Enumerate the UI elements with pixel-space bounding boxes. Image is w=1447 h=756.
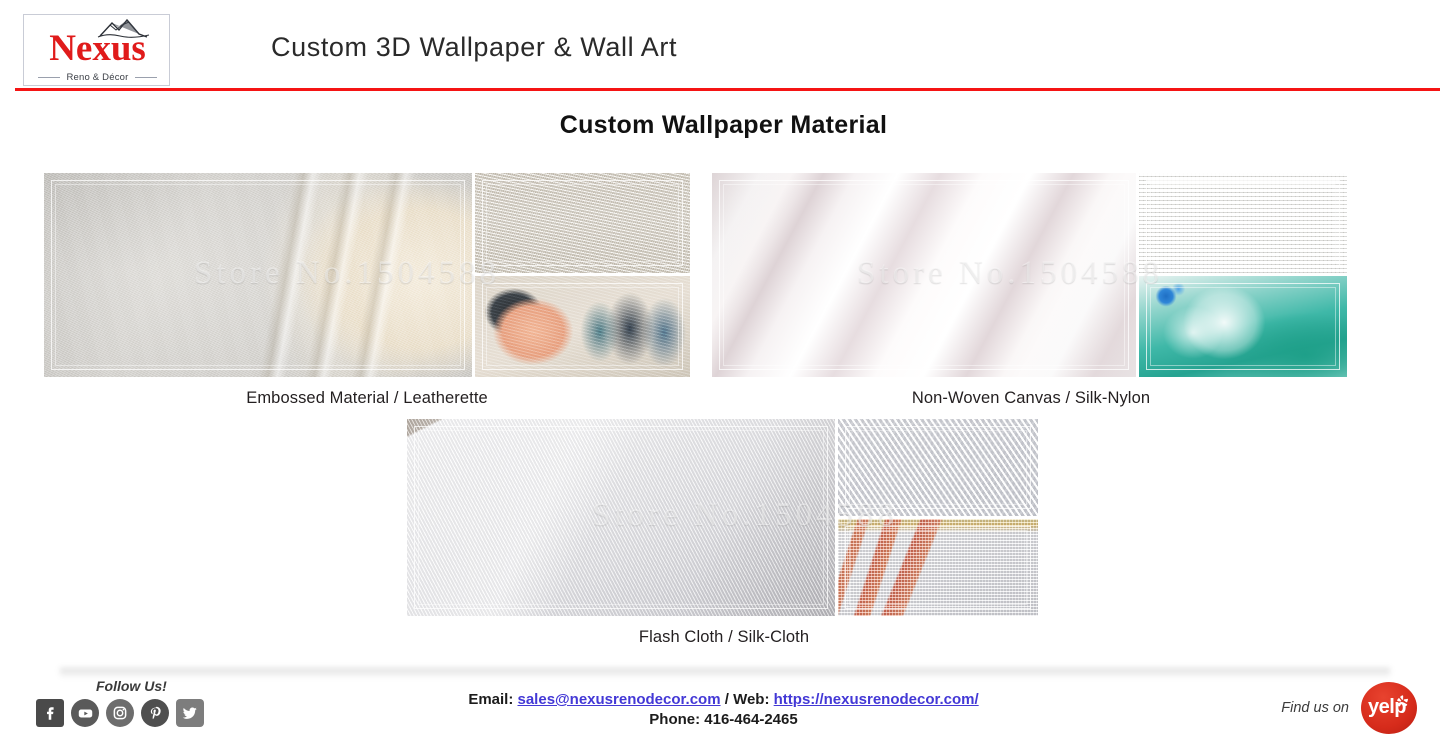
material-group-embossed: Store No.1504588 Embossed Material / Lea… (44, 173, 690, 408)
email-link[interactable]: sales@nexusrenodecor.com (518, 691, 721, 708)
flash-cloth-bump-texture-photo[interactable] (838, 419, 1038, 516)
tagline-rule-right (135, 77, 157, 78)
contact-info: Email: sales@nexusrenodecor.com / Web: h… (0, 690, 1447, 730)
tagline-rule-left (38, 77, 60, 78)
website-link[interactable]: https://nexusrenodecor.com/ (774, 691, 979, 708)
footer-divider-shadow (60, 668, 1390, 678)
flash-cloth-sheet-photo[interactable] (407, 419, 835, 616)
header-divider (15, 88, 1440, 91)
material-side-images (1139, 173, 1347, 377)
page-title: Custom Wallpaper Material (0, 111, 1447, 140)
material-side-images (838, 419, 1038, 616)
page-header: Nexus Reno & Décor Custom 3D Wallpaper &… (0, 0, 1447, 92)
material-group-images: Store No.1504588 (44, 173, 690, 377)
brand-logo[interactable]: Nexus Reno & Décor (23, 14, 170, 86)
material-group-images: Store No.1504588 (712, 173, 1350, 377)
teal-floral-print-photo[interactable] (1139, 276, 1347, 377)
material-side-images (475, 173, 690, 377)
phone-line: Phone: 416-464-2465 (0, 710, 1447, 730)
material-group-images: Store No.1504588 (407, 419, 1041, 616)
white-silk-fabric-photo[interactable] (712, 173, 1136, 377)
brand-logo-word: Nexus (24, 29, 171, 69)
yelp-block[interactable]: Find us on yelp (1281, 682, 1417, 734)
yelp-burst-icon (1395, 694, 1410, 709)
material-group-nonwoven: Store No.1504588 Non-Woven Canvas / Silk… (712, 173, 1350, 408)
material-caption-embossed: Embossed Material / Leatherette (44, 389, 690, 408)
page-footer: Follow Us! (0, 668, 1447, 756)
material-caption-flashcloth: Flash Cloth / Silk-Cloth (407, 628, 1041, 647)
contact-separator: / (721, 691, 734, 708)
embossed-stucco-texture-photo[interactable] (475, 173, 690, 273)
brand-tagline-wrap: Reno & Décor (24, 72, 171, 83)
contact-line-primary: Email: sales@nexusrenodecor.com / Web: h… (0, 690, 1447, 710)
slide-page: Nexus Reno & Décor Custom 3D Wallpaper &… (0, 0, 1447, 756)
red-stripe-mesh-print-photo[interactable] (838, 519, 1038, 616)
web-label: Web: (733, 691, 769, 708)
header-title: Custom 3D Wallpaper & Wall Art (271, 32, 677, 63)
yelp-badge[interactable]: yelp (1361, 682, 1417, 734)
yelp-label: Find us on (1281, 700, 1349, 716)
embossed-bird-print-photo[interactable] (475, 276, 690, 377)
material-group-flashcloth: Store No.1504588 Flash Cloth / Silk-Clot… (407, 419, 1041, 647)
email-label: Email: (468, 691, 513, 708)
embossed-wallpaper-roll-photo[interactable] (44, 173, 472, 377)
material-caption-nonwoven: Non-Woven Canvas / Silk-Nylon (712, 389, 1350, 408)
non-woven-mesh-texture-photo[interactable] (1139, 173, 1347, 273)
brand-tagline: Reno & Décor (66, 72, 128, 83)
